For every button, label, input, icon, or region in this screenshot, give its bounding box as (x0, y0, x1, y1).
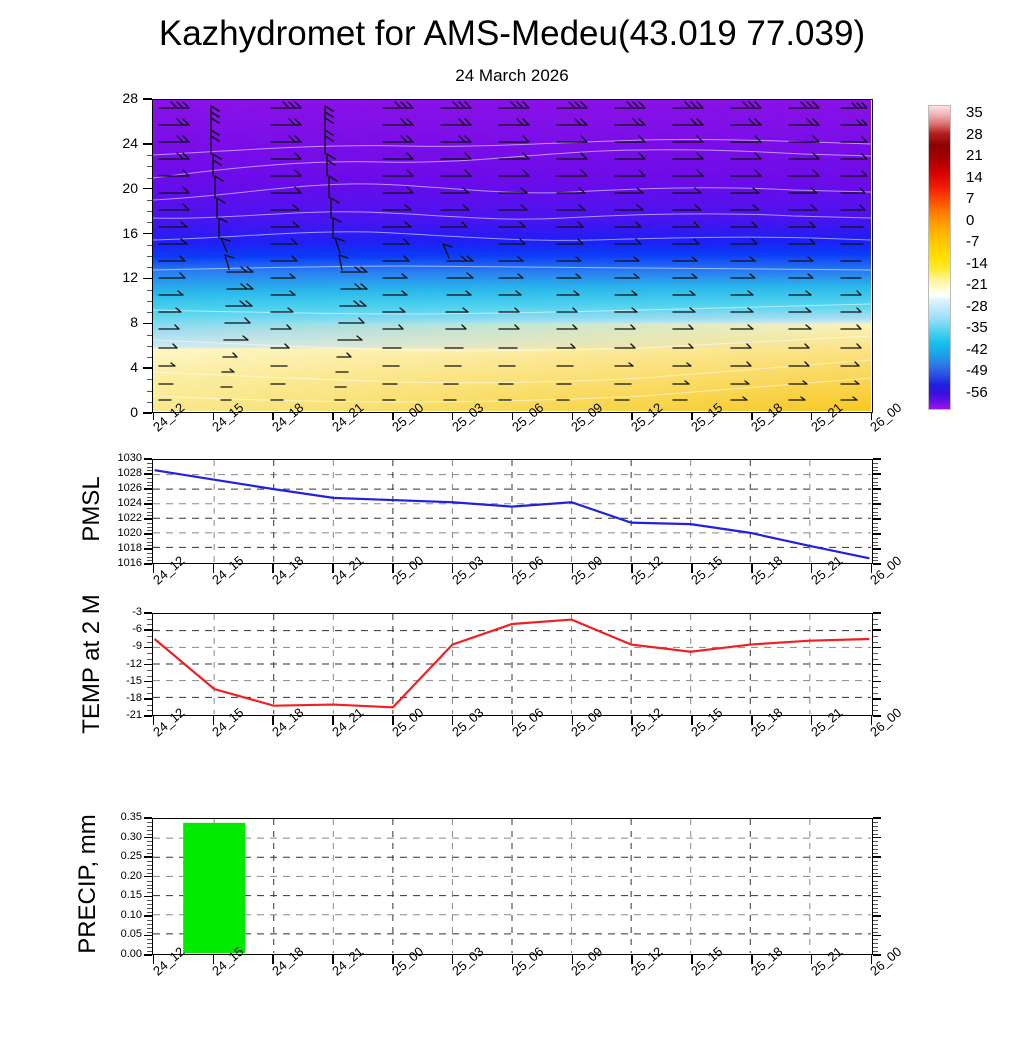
y-minor-tick (147, 826, 152, 827)
y-tick (144, 954, 152, 956)
y-minor-tick (147, 853, 152, 854)
y-minor-tick-right (873, 943, 878, 944)
y-tick (144, 817, 152, 819)
y-minor-tick (147, 830, 152, 831)
y-minor-tick-right (873, 908, 878, 909)
y-tick-right (873, 935, 881, 937)
y-minor-tick-right (873, 841, 878, 842)
y-minor-tick-right (873, 920, 878, 921)
y-minor-tick (147, 849, 152, 850)
y-tick (144, 876, 152, 878)
y-minor-tick (147, 885, 152, 886)
y-tick-right (873, 954, 881, 956)
y-minor-tick-right (873, 830, 878, 831)
y-minor-tick (147, 900, 152, 901)
y-tick (144, 915, 152, 917)
y-minor-tick (147, 912, 152, 913)
y-minor-tick (147, 932, 152, 933)
y-tick (144, 896, 152, 898)
y-minor-tick-right (873, 912, 878, 913)
y-minor-tick-right (873, 881, 878, 882)
y-minor-tick (147, 947, 152, 948)
y-minor-tick (147, 939, 152, 940)
y-minor-tick (147, 908, 152, 909)
y-minor-tick-right (873, 928, 878, 929)
y-minor-tick-right (873, 853, 878, 854)
y-tick (144, 837, 152, 839)
y-minor-tick (147, 904, 152, 905)
y-tick-label: 0.15 (100, 889, 142, 901)
y-minor-tick-right (873, 888, 878, 889)
y-minor-tick (147, 869, 152, 870)
y-minor-tick (147, 834, 152, 835)
y-tick (144, 856, 152, 858)
y-minor-tick (147, 841, 152, 842)
y-tick-label: 0.00 (100, 948, 142, 960)
y-minor-tick-right (873, 892, 878, 893)
y-minor-tick (147, 861, 152, 862)
y-minor-tick-right (873, 869, 878, 870)
y-minor-tick-right (873, 924, 878, 925)
y-tick-label: 0.05 (100, 928, 142, 940)
y-minor-tick-right (873, 939, 878, 940)
y-minor-tick-right (873, 845, 878, 846)
y-tick (144, 935, 152, 937)
y-tick-label: 0.25 (100, 850, 142, 862)
y-minor-tick (147, 888, 152, 889)
y-minor-tick (147, 892, 152, 893)
y-tick-right (873, 876, 881, 878)
y-minor-tick-right (873, 822, 878, 823)
y-minor-tick (147, 865, 152, 866)
y-minor-tick-right (873, 951, 878, 952)
y-tick-label: 0.35 (100, 811, 142, 823)
y-tick-right (873, 856, 881, 858)
y-minor-tick (147, 920, 152, 921)
y-minor-tick-right (873, 873, 878, 874)
y-minor-tick (147, 881, 152, 882)
y-minor-tick-right (873, 826, 878, 827)
y-minor-tick (147, 951, 152, 952)
y-minor-tick-right (873, 885, 878, 886)
y-minor-tick (147, 822, 152, 823)
y-minor-tick (147, 845, 152, 846)
y-tick-label: 0.30 (100, 831, 142, 843)
y-tick-label: 0.20 (100, 870, 142, 882)
y-minor-tick-right (873, 947, 878, 948)
y-minor-tick (147, 924, 152, 925)
y-minor-tick-right (873, 861, 878, 862)
y-minor-tick-right (873, 904, 878, 905)
y-tick-right (873, 896, 881, 898)
y-minor-tick-right (873, 932, 878, 933)
y-minor-tick (147, 928, 152, 929)
y-minor-tick-right (873, 834, 878, 835)
y-tick-right (873, 817, 881, 819)
y-minor-tick (147, 943, 152, 944)
y-minor-tick-right (873, 900, 878, 901)
y-tick-right (873, 837, 881, 839)
y-minor-tick-right (873, 865, 878, 866)
y-minor-tick (147, 873, 152, 874)
y-tick-right (873, 915, 881, 917)
y-minor-tick-right (873, 849, 878, 850)
precip-y-axis: 0.000.050.100.150.200.250.300.35 (0, 0, 1024, 1024)
y-tick-label: 0.10 (100, 909, 142, 921)
